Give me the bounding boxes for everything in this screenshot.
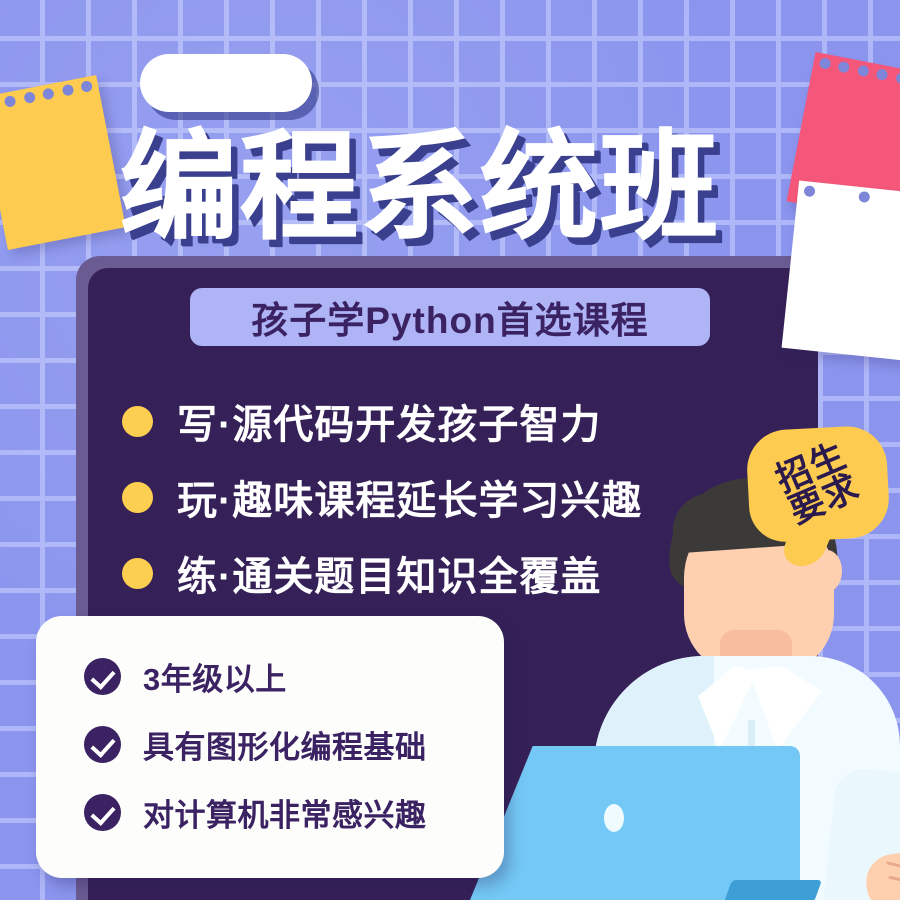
subtitle-badge: 孩子学Python首选课程 xyxy=(190,288,710,346)
poster-canvas: 编程系统班 孩子学Python首选课程 写·源代码开发孩子智力 玩·趣味课程延长… xyxy=(0,0,900,900)
laptop-logo-icon xyxy=(604,804,624,832)
page-title: 编程系统班 xyxy=(120,118,840,258)
feature-label: 练·通关题目知识全覆盖 xyxy=(177,544,601,602)
requirement-label: 具有图形化编程基础 xyxy=(143,722,427,767)
speech-bubble: 招生 要求 xyxy=(745,424,891,543)
bullet-dot-icon xyxy=(122,482,153,513)
requirement-item: 3年级以上 xyxy=(84,642,504,710)
check-icon xyxy=(84,726,121,763)
requirement-label: 对计算机非常感兴趣 xyxy=(143,790,427,835)
bullet-dot-icon xyxy=(122,406,153,437)
check-icon xyxy=(84,658,121,695)
requirements-card: 3年级以上 具有图形化编程基础 对计算机非常感兴趣 xyxy=(36,616,504,878)
laptop-base xyxy=(724,880,822,900)
check-icon xyxy=(84,794,121,831)
feature-item: 写·源代码开发孩子智力 xyxy=(122,385,702,457)
requirement-label: 3年级以上 xyxy=(143,654,287,699)
laptop-illustration xyxy=(470,746,800,900)
requirement-item: 具有图形化编程基础 xyxy=(84,710,504,778)
top-pill-shape xyxy=(140,54,312,112)
requirement-item: 对计算机非常感兴趣 xyxy=(84,778,504,846)
laptop-lid xyxy=(470,746,800,900)
feature-label: 写·源代码开发孩子智力 xyxy=(177,392,601,450)
bullet-dot-icon xyxy=(122,558,153,589)
feature-label: 玩·趣味课程延长学习兴趣 xyxy=(177,468,642,526)
